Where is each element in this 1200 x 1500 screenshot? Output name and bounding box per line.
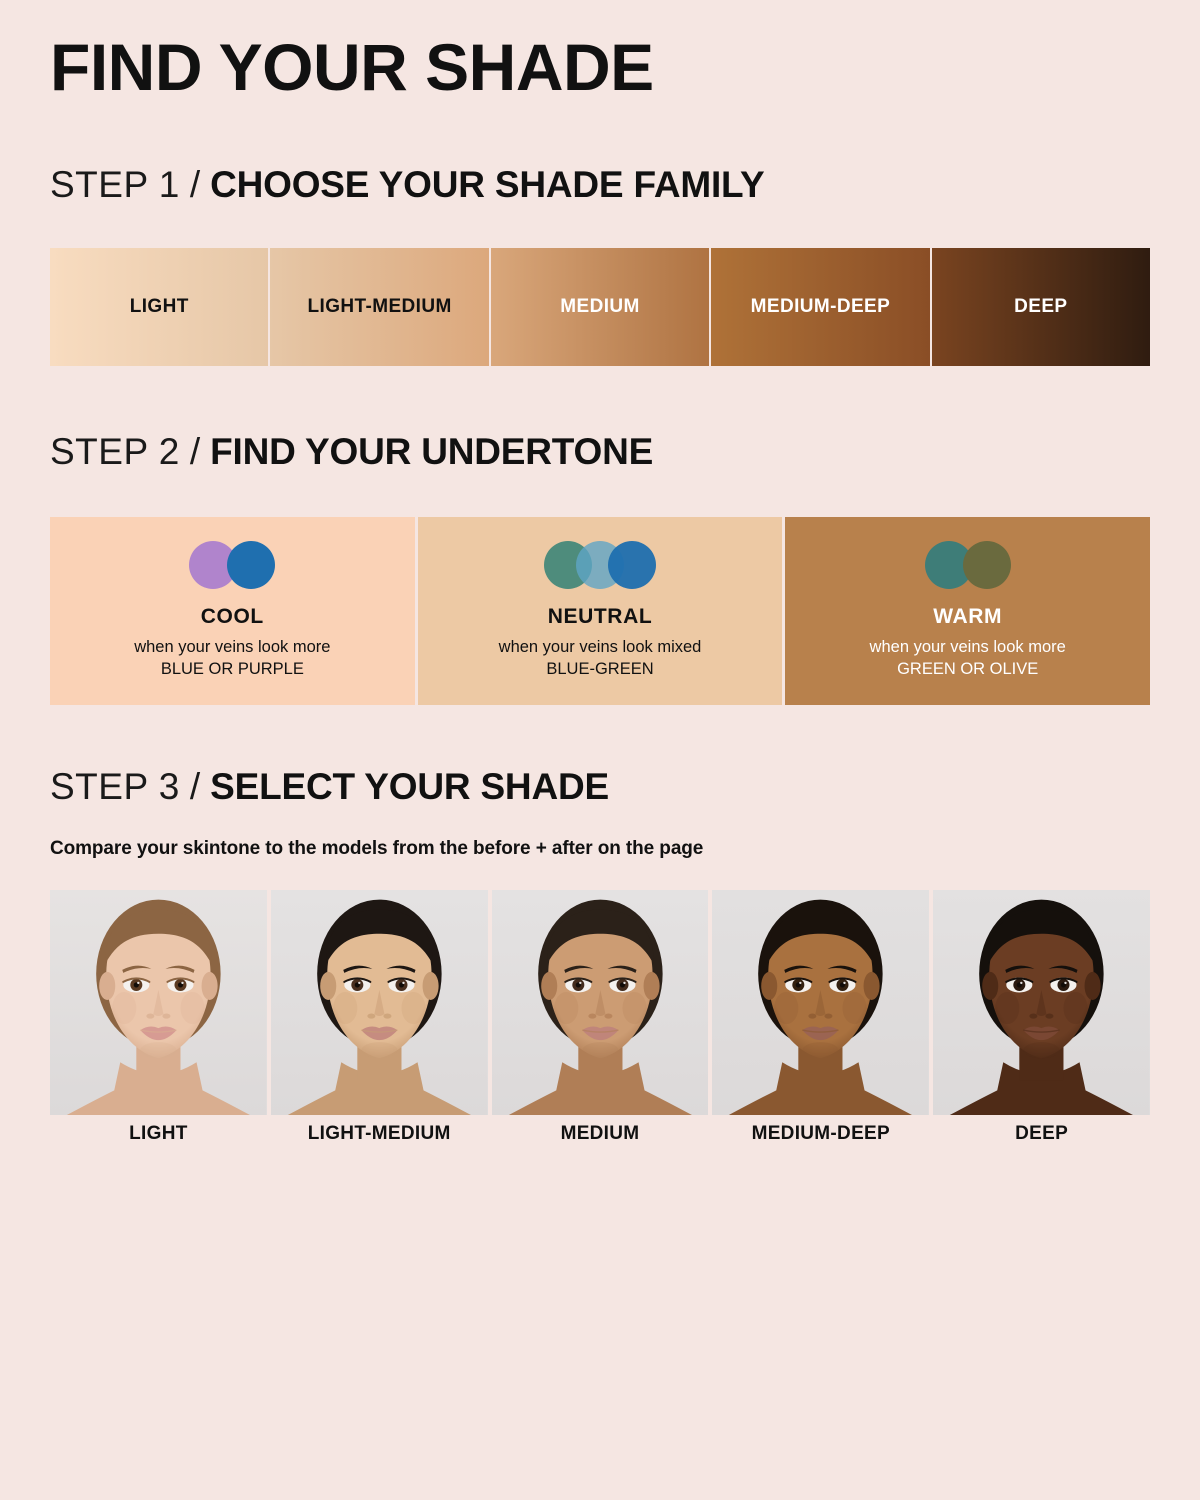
- step-2-label: FIND YOUR UNDERTONE: [210, 431, 653, 472]
- step-3-heading: STEP 3/SELECT YOUR SHADE: [50, 768, 609, 805]
- step-1-heading: STEP 1/CHOOSE YOUR SHADE FAMILY: [50, 166, 765, 203]
- model-portrait-image: [50, 890, 267, 1115]
- shade-family-segment-medium[interactable]: MEDIUM: [489, 248, 709, 366]
- olive-dot: [963, 541, 1011, 589]
- shade-family-segment-light[interactable]: LIGHT: [50, 248, 268, 366]
- undertone-description-line1: when your veins look mixed: [499, 638, 702, 656]
- model-photo-row: [50, 890, 1150, 1115]
- undertone-dot-group: [189, 541, 275, 589]
- select-shade-subtitle: Compare your skintone to the models from…: [50, 838, 703, 860]
- model-label-light-medium: LIGHT-MEDIUM: [271, 1123, 488, 1145]
- step-1-slash: /: [180, 164, 210, 205]
- step-3-label: SELECT YOUR SHADE: [210, 766, 609, 807]
- step-2-heading: STEP 2/FIND YOUR UNDERTONE: [50, 433, 653, 470]
- undertone-description-line2: GREEN OR OLIVE: [870, 658, 1066, 680]
- undertone-title: COOL: [201, 605, 264, 629]
- model-photo-medium[interactable]: [492, 890, 709, 1115]
- shade-family-segment-label: MEDIUM-DEEP: [751, 296, 891, 318]
- undertone-description-line1: when your veins look more: [134, 638, 330, 656]
- model-label-deep: DEEP: [933, 1123, 1150, 1145]
- model-label-light: LIGHT: [50, 1123, 267, 1145]
- blue-dot: [608, 541, 656, 589]
- find-your-shade-page: FIND YOUR SHADE STEP 1/CHOOSE YOUR SHADE…: [0, 0, 1200, 1500]
- page-title: FIND YOUR SHADE: [50, 34, 654, 100]
- step-3-number: STEP 3: [50, 766, 180, 807]
- undertone-panel-neutral[interactable]: NEUTRALwhen your veins look mixedBLUE-GR…: [415, 517, 783, 705]
- undertone-panel-cool[interactable]: COOLwhen your veins look moreBLUE OR PUR…: [50, 517, 415, 705]
- step-3-slash: /: [180, 766, 210, 807]
- shade-family-segment-label: LIGHT-MEDIUM: [308, 296, 452, 318]
- step-1-number: STEP 1: [50, 164, 180, 205]
- model-label-row: LIGHTLIGHT-MEDIUMMEDIUMMEDIUM-DEEPDEEP: [50, 1123, 1150, 1145]
- undertone-description-line2: BLUE-GREEN: [499, 658, 702, 680]
- step-2-number: STEP 2: [50, 431, 180, 472]
- shade-family-segment-label: DEEP: [1014, 296, 1067, 318]
- shade-family-bar: LIGHTLIGHT-MEDIUMMEDIUMMEDIUM-DEEPDEEP: [50, 248, 1150, 366]
- model-photo-deep[interactable]: [933, 890, 1150, 1115]
- model-portrait-image: [271, 890, 488, 1115]
- model-portrait-image: [933, 890, 1150, 1115]
- undertone-dot-group: [925, 541, 1011, 589]
- undertone-panels: COOLwhen your veins look moreBLUE OR PUR…: [50, 517, 1150, 705]
- model-label-medium-deep: MEDIUM-DEEP: [712, 1123, 929, 1145]
- undertone-description-line1: when your veins look more: [870, 638, 1066, 656]
- blue-dot: [227, 541, 275, 589]
- model-portrait-image: [492, 890, 709, 1115]
- undertone-dot-group: [544, 541, 656, 589]
- undertone-description: when your veins look mixedBLUE-GREEN: [499, 636, 702, 681]
- undertone-title: NEUTRAL: [548, 605, 653, 629]
- model-photo-medium-deep[interactable]: [712, 890, 929, 1115]
- undertone-description: when your veins look moreBLUE OR PURPLE: [134, 636, 330, 681]
- step-2-slash: /: [180, 431, 210, 472]
- undertone-panel-warm[interactable]: WARMwhen your veins look moreGREEN OR OL…: [782, 517, 1150, 705]
- shade-family-segment-label: MEDIUM: [560, 296, 639, 318]
- shade-family-segment-deep[interactable]: DEEP: [930, 248, 1150, 366]
- model-photo-light[interactable]: [50, 890, 267, 1115]
- shade-family-segment-light-medium[interactable]: LIGHT-MEDIUM: [268, 248, 488, 366]
- shade-family-segment-label: LIGHT: [130, 296, 189, 318]
- model-portrait-image: [712, 890, 929, 1115]
- undertone-description-line2: BLUE OR PURPLE: [134, 658, 330, 680]
- model-label-medium: MEDIUM: [492, 1123, 709, 1145]
- shade-family-segment-medium-deep[interactable]: MEDIUM-DEEP: [709, 248, 929, 366]
- step-1-label: CHOOSE YOUR SHADE FAMILY: [210, 164, 764, 205]
- model-photo-light-medium[interactable]: [271, 890, 488, 1115]
- undertone-description: when your veins look moreGREEN OR OLIVE: [870, 636, 1066, 681]
- undertone-title: WARM: [933, 605, 1002, 629]
